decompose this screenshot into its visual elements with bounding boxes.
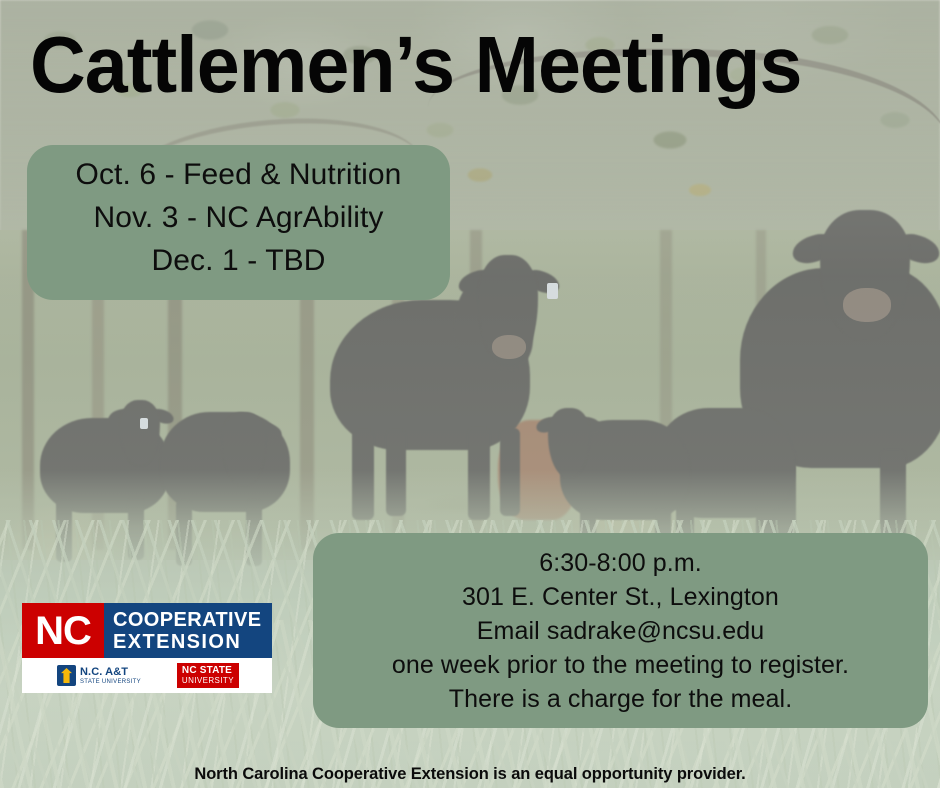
meeting-date-line: Dec. 1 - TBD <box>27 239 450 282</box>
cow-center-ear-tag <box>547 283 558 299</box>
registration-email[interactable]: Email sadrake@ncsu.edu <box>313 614 928 648</box>
registration-deadline: one week prior to the meeting to registe… <box>313 648 928 682</box>
logo-partner-bar: N.C. A&T STATE UNIVERSITY NC STATE UNIVE… <box>22 658 272 693</box>
logo-cooperative-text: COOPERATIVE <box>113 609 262 631</box>
logo-extension-text: EXTENSION <box>113 631 241 653</box>
meeting-date-line: Nov. 3 - NC AgrAbility <box>27 196 450 239</box>
nc-at-text: N.C. A&T STATE UNIVERSITY <box>80 667 141 685</box>
equal-opportunity-statement: North Carolina Cooperative Extension is … <box>14 764 926 784</box>
logo-wordmark: COOPERATIVE EXTENSION <box>104 603 272 658</box>
flyer-poster: Cattlemen’s Meetings Oct. 6 - Feed & Nut… <box>0 0 940 788</box>
meeting-date-line: Oct. 6 - Feed & Nutrition <box>27 153 450 196</box>
nc-at-subtitle: STATE UNIVERSITY <box>80 679 141 685</box>
nc-state-logo: NC STATE UNIVERSITY <box>177 663 239 688</box>
aggie-shield-icon <box>57 665 76 686</box>
logo-primary-bar: NC COOPERATIVE EXTENSION <box>22 603 272 658</box>
meeting-time: 6:30-8:00 p.m. <box>313 546 928 580</box>
cow-left-ear-tag <box>140 418 148 429</box>
nc-at-logo: N.C. A&T STATE UNIVERSITY <box>57 665 141 686</box>
nc-at-name: N.C. A&T <box>80 667 141 678</box>
logo-nc-mark: NC <box>22 603 104 658</box>
nc-state-name: NC STATE <box>182 666 234 676</box>
cow-right-muzzle <box>843 288 891 322</box>
meeting-address: 301 E. Center St., Lexington <box>313 580 928 614</box>
meal-charge-note: There is a charge for the meal. <box>313 682 928 716</box>
nc-state-subtitle: UNIVERSITY <box>182 677 234 685</box>
meeting-dates-panel: Oct. 6 - Feed & Nutrition Nov. 3 - NC Ag… <box>27 145 450 300</box>
meeting-details-panel: 6:30-8:00 p.m. 301 E. Center St., Lexing… <box>313 533 928 728</box>
page-title: Cattlemen’s Meetings <box>30 22 889 108</box>
nc-cooperative-extension-logo: NC COOPERATIVE EXTENSION N.C. A&T STATE … <box>22 603 272 693</box>
cow-center-muzzle <box>492 335 526 359</box>
